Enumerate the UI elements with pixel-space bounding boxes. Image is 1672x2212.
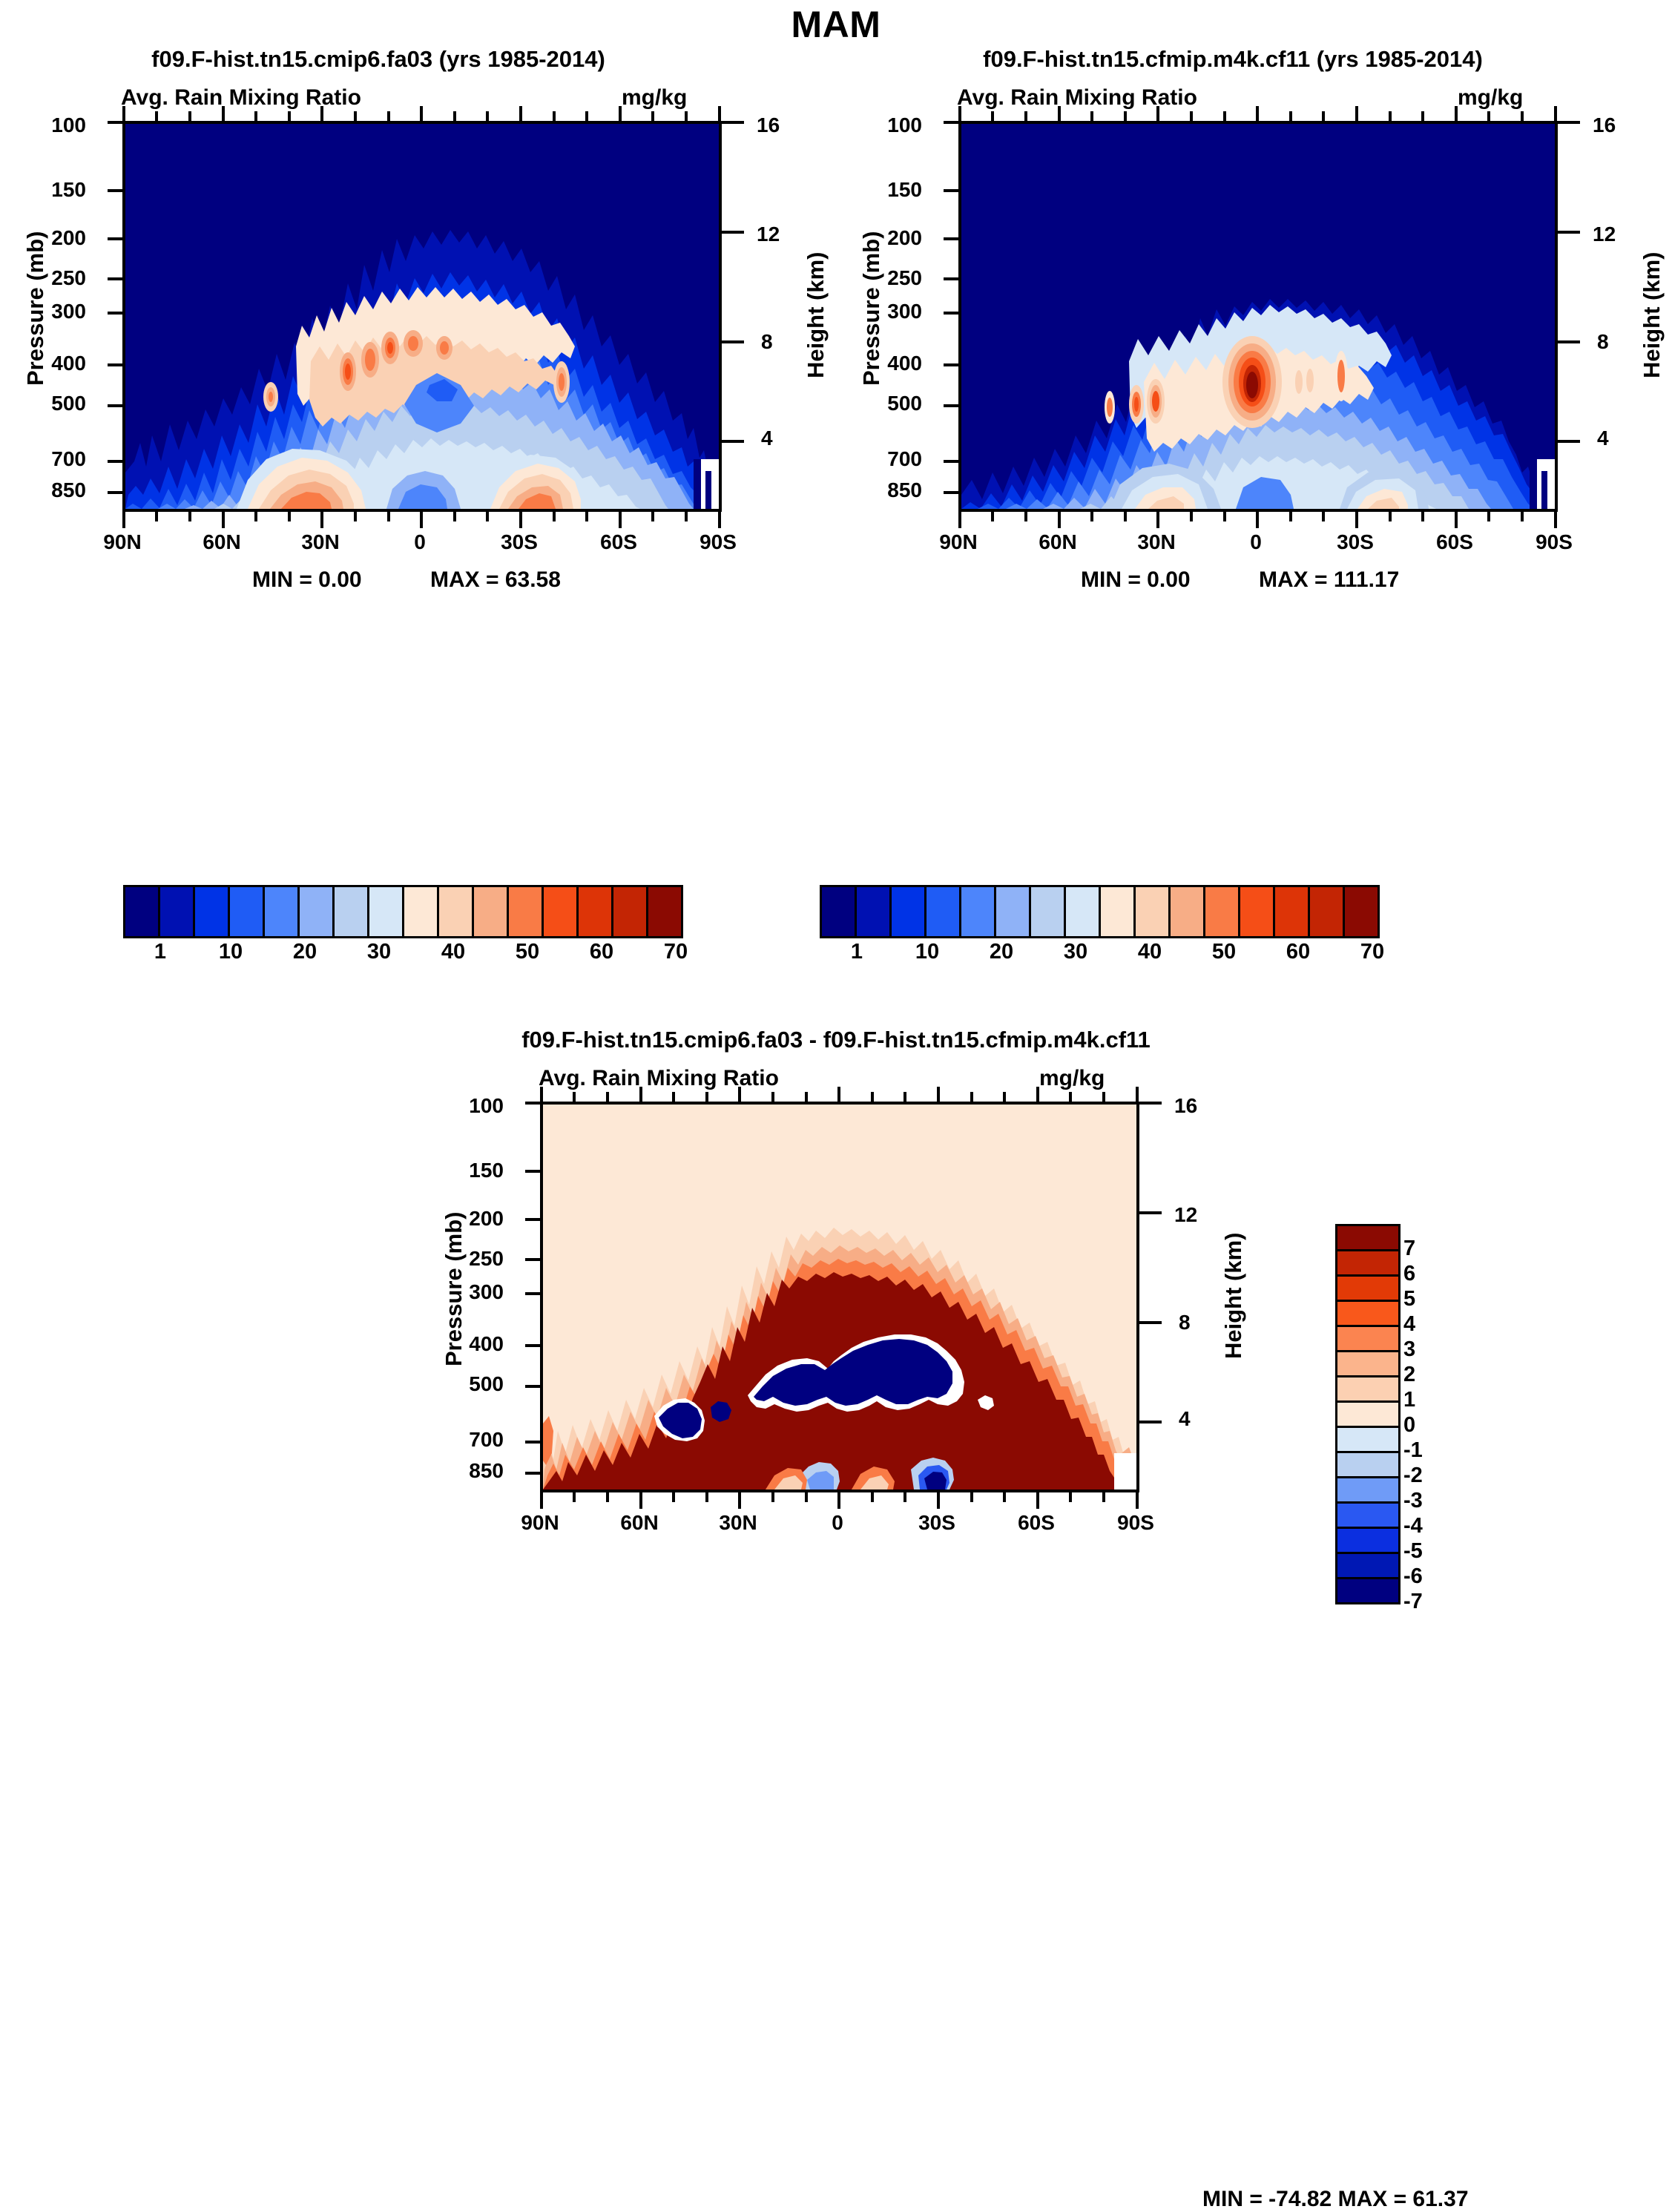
cb-tick-label: -3 [1403,1489,1423,1513]
y2-tick-label: 16 [1593,113,1616,137]
colorbar-cell [1335,1501,1401,1529]
max-label-top-right: MAX = 111.17 [1259,567,1399,593]
cb-tick-label: 60 [565,940,639,964]
cb-tick-label: 7 [1403,1237,1415,1261]
colorbar-vertical-diff [1335,1224,1401,1604]
y-tick-label: 300 [872,300,922,323]
cb-tick-label: 50 [1187,940,1261,964]
cb-tick-label: 1 [1403,1388,1415,1412]
colorbar-cell [924,885,961,938]
colorbar-cell [855,885,892,938]
y-tick-label: 850 [36,478,86,502]
x-tick-label: 90S [688,530,748,554]
cb-tick-label: -1 [1403,1438,1423,1463]
contour-plot-top-right [958,121,1558,512]
colorbar-cell [507,885,544,938]
colorbar-cell [1335,1375,1401,1403]
colorbar-cell [1029,885,1066,938]
colorbar-cell [472,885,509,938]
x-tick-label: 60N [609,1511,670,1535]
cb-tick-label: 20 [964,940,1039,964]
cb-tick-label: 20 [268,940,342,964]
cb-tick-label: 10 [194,940,268,964]
y-tick-label: 850 [872,478,922,502]
colorbar-horizontal-left [123,885,683,938]
cb-tick-label: -2 [1403,1464,1423,1488]
colorbar-cell [1335,1249,1401,1277]
colorbar-ticklabels-right: 1 10 20 30 40 50 60 70 [820,940,1413,974]
colorbar-cell [611,885,648,938]
y2-tick-label: 8 [761,330,773,354]
y2-axis-title-bottom: Height (km) [1220,1233,1247,1360]
colorbar-cell [1203,885,1240,938]
y-tick-label: 250 [36,266,86,290]
panel-top-left: f09.F-hist.tn15.cmip6.fa03 (yrs 1985-201… [0,0,836,1009]
cb-tick-label: 3 [1403,1337,1415,1362]
bottom-tick-group-right [958,512,1558,528]
y-tick-label: 300 [36,300,86,323]
y-tick-label: 500 [36,392,86,415]
colorbar-cell [1335,1426,1401,1453]
y2-tick-label: 4 [1597,427,1609,450]
colorbar-cell [367,885,404,938]
colorbar-cell [1335,1451,1401,1478]
colorbar-cell [1335,1577,1401,1604]
right-tick-group-bottom [1139,1102,1162,1492]
panel-title-bottom: f09.F-hist.tn15.cmip6.fa03 - f09.F-hist.… [243,1027,1429,1053]
y2-tick-label: 4 [761,427,773,450]
left-tick-group-right [944,121,961,512]
colorbar-cell [1343,885,1380,938]
x-tick-label: 0 [807,1511,868,1535]
x-tick-label: 60N [1027,530,1088,554]
colorbar-cell [297,885,335,938]
x-tick-label: 90N [928,530,989,554]
colorbar-cell [1335,1527,1401,1554]
x-tick-label: 30N [290,530,351,554]
colorbar-cell [889,885,926,938]
colorbar-cell [1168,885,1205,938]
cb-tick-label: 60 [1261,940,1335,964]
y-tick-label: 850 [453,1459,504,1483]
colorbar-cell [228,885,265,938]
x-tick-label: 0 [1225,530,1286,554]
y-tick-label: 200 [872,226,922,250]
minmax-label-bottom: MIN = -74.82 MAX = 61.37 [1202,2187,1469,2212]
figure-root: MAM f09.F-hist.tn15.cmip6.fa03 (yrs 1985… [0,0,1672,1792]
colorbar-cell [1335,1224,1401,1251]
x-tick-label: 30S [489,530,550,554]
cb-tick-label: 30 [342,940,416,964]
y-tick-label: 100 [453,1094,504,1118]
y-tick-label: 100 [872,113,922,137]
right-tick-group-left [722,121,744,512]
cb-tick-label: 40 [1113,940,1187,964]
colorbar-cell [1335,1325,1401,1352]
max-label-top-left: MAX = 63.58 [430,567,561,593]
colorbar-cell [402,885,439,938]
top-tick-group-right [958,106,1558,121]
cb-tick-label: 5 [1403,1287,1415,1311]
top-tick-group-bottom [540,1087,1139,1102]
colorbar-cell [1335,1400,1401,1428]
cb-tick-label: -7 [1403,1590,1423,1614]
cb-tick-label: 2 [1403,1363,1415,1387]
y2-axis-title-top-left: Height (km) [803,252,829,379]
colorbar-cell [1335,1350,1401,1377]
y2-tick-label: 12 [1174,1203,1197,1227]
y2-tick-label: 8 [1597,330,1609,354]
colorbar-cell [959,885,996,938]
colorbar-vertical-labels: 76543210-1-2-3-4-5-6-7 [1403,1224,1455,1639]
y-tick-label: 250 [453,1247,504,1271]
top-tick-group-left [122,106,722,121]
y-tick-label: 400 [36,352,86,375]
colorbar-cell [820,885,857,938]
colorbar-cell [437,885,474,938]
colorbar-cell [1133,885,1171,938]
y-tick-label: 100 [36,113,86,137]
y-tick-label: 250 [872,266,922,290]
cb-tick-label: 1 [820,940,894,964]
y-tick-label: 700 [453,1428,504,1452]
y2-tick-label: 16 [757,113,780,137]
left-tick-group-left [108,121,125,512]
y-tick-label: 200 [453,1207,504,1231]
x-tick-label: 90N [92,530,153,554]
y-tick-label: 400 [453,1332,504,1356]
y-tick-label: 150 [36,178,86,202]
bottom-tick-group-left [122,512,722,528]
cb-tick-label: 40 [416,940,490,964]
x-tick-label: 90N [510,1511,570,1535]
min-label-top-left: MIN = 0.00 [252,567,362,593]
cb-tick-label: -5 [1403,1539,1423,1564]
colorbar-cell [542,885,579,938]
y-tick-label: 700 [36,447,86,471]
panel-title-top-left: f09.F-hist.tn15.cmip6.fa03 (yrs 1985-201… [0,46,757,73]
x-tick-label: 0 [389,530,450,554]
panel-bottom-diff: f09.F-hist.tn15.cmip6.fa03 - f09.F-hist.… [0,1009,1672,1792]
y-tick-label: 150 [453,1159,504,1182]
x-tick-label: 60S [1006,1511,1067,1535]
contour-plot-top-left [122,121,722,512]
y2-tick-label: 16 [1174,1094,1197,1118]
contour-svg-right [961,124,1555,509]
y-tick-label: 500 [872,392,922,415]
cb-tick-label: 4 [1403,1312,1415,1337]
cb-tick-label: 1 [123,940,197,964]
colorbar-cell [1335,1274,1401,1302]
bottom-tick-group-bottom [540,1492,1139,1509]
cb-tick-label: 70 [639,940,713,964]
x-tick-label: 30S [906,1511,967,1535]
cb-tick-label: -4 [1403,1514,1423,1538]
x-tick-label: 60S [588,530,649,554]
cb-tick-label: 70 [1335,940,1409,964]
panel-top-right: f09.F-hist.tn15.cfmip.m4k.cf11 (yrs 1985… [836,0,1672,1009]
cb-tick-label: 30 [1039,940,1113,964]
cb-tick-label: 10 [890,940,964,964]
y2-tick-label: 12 [757,223,780,246]
y2-tick-label: 4 [1179,1407,1191,1431]
colorbar-cell [1335,1476,1401,1504]
min-label-top-right: MIN = 0.00 [1081,567,1191,593]
cb-tick-label: -6 [1403,1564,1423,1589]
x-tick-label: 30N [708,1511,768,1535]
colorbar-cell [1064,885,1101,938]
colorbar-cell [1308,885,1345,938]
colorbar-cell [1335,1552,1401,1579]
y2-axis-title-top-right: Height (km) [1639,252,1665,379]
colorbar-ticklabels-left: 1 10 20 30 40 50 60 70 [123,940,717,974]
cb-tick-label: 50 [490,940,565,964]
contour-svg-diff [543,1105,1136,1490]
y-tick-label: 700 [872,447,922,471]
y-tick-label: 500 [453,1372,504,1396]
colorbar-cell [123,885,160,938]
colorbar-cell [193,885,230,938]
colorbar-cell [994,885,1031,938]
x-tick-label: 30S [1325,530,1386,554]
x-tick-label: 90S [1105,1511,1166,1535]
contour-svg-left [125,124,719,509]
colorbar-cell [263,885,300,938]
cb-tick-label: 0 [1403,1413,1415,1438]
x-tick-label: 90S [1524,530,1584,554]
y-tick-label: 150 [872,178,922,202]
x-tick-label: 60N [191,530,252,554]
colorbar-cell [1099,885,1136,938]
colorbar-cell [576,885,613,938]
y-tick-label: 400 [872,352,922,375]
panel-title-top-right: f09.F-hist.tn15.cfmip.m4k.cf11 (yrs 1985… [855,46,1611,73]
x-tick-label: 30N [1126,530,1187,554]
contour-plot-bottom-diff [540,1102,1139,1492]
colorbar-cell [1335,1300,1401,1327]
y2-tick-label: 8 [1179,1311,1191,1334]
x-tick-label: 60S [1424,530,1485,554]
colorbar-cell [158,885,195,938]
right-tick-group-right [1558,121,1580,512]
y2-tick-label: 12 [1593,223,1616,246]
colorbar-cell [1238,885,1275,938]
left-tick-group-bottom [525,1102,543,1492]
colorbar-horizontal-right [820,885,1380,938]
colorbar-cell [332,885,369,938]
colorbar-cell [646,885,683,938]
y-tick-label: 200 [36,226,86,250]
y-tick-label: 300 [453,1280,504,1304]
cb-tick-label: 6 [1403,1262,1415,1286]
colorbar-cell [1273,885,1310,938]
